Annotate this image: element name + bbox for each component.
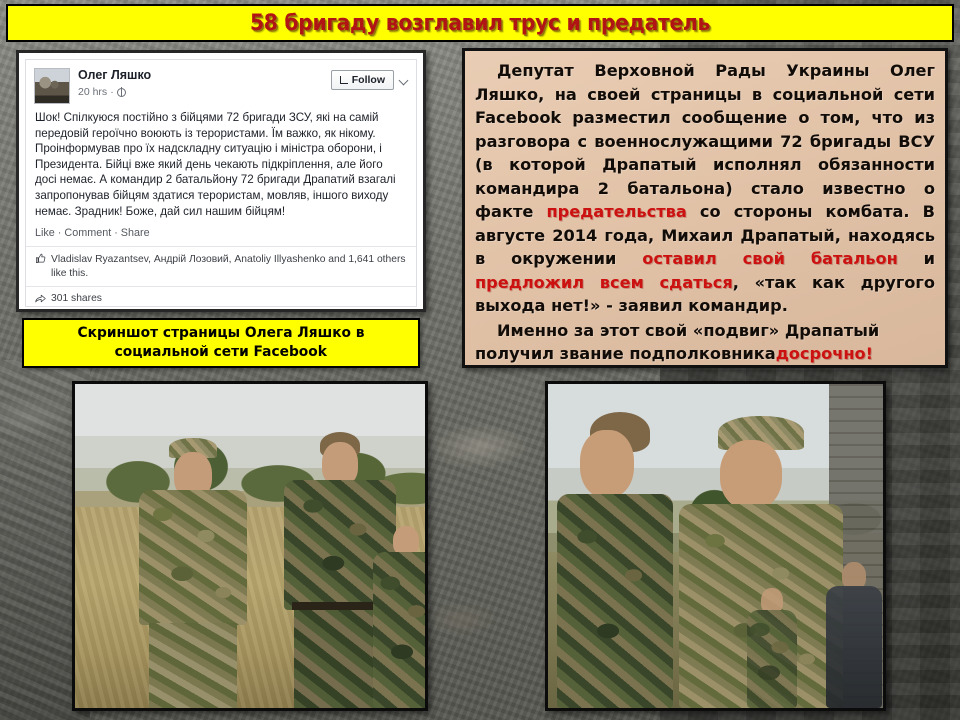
caption-line-2: социальной сети Facebook xyxy=(115,343,327,362)
bystander-2-body xyxy=(826,586,882,708)
photo-right-bystander-2 xyxy=(824,558,884,708)
likes-text: Vladislav Ryazantsev, Андрій Лозовий, An… xyxy=(51,253,407,280)
facebook-screenshot-card: Олег Ляшко 20 hrs · Follow Шок! Спілкуюс… xyxy=(16,50,426,312)
follow-button[interactable]: Follow xyxy=(331,70,394,90)
follow-button-label: Follow xyxy=(352,74,385,86)
post-likes-row: Vladislav Ryazantsev, Андрій Лозовий, An… xyxy=(26,246,416,286)
soldier-3-body xyxy=(373,552,428,708)
p2-highlight-1: досрочно! xyxy=(776,344,873,363)
article-paragraph-1: Депутат Верховной Рады Украины Олег Ляшк… xyxy=(475,59,935,318)
screenshot-caption: Скриншот страницы Олега Ляшко в социальн… xyxy=(22,318,420,368)
photo-right-bystander-1 xyxy=(744,588,800,708)
chevron-down-icon[interactable] xyxy=(399,76,408,85)
post-timestamp[interactable]: 20 hrs xyxy=(78,85,107,99)
photo-officers-talking xyxy=(545,381,886,711)
p1-text-c: и xyxy=(898,249,935,268)
page-title: 58 бригаду возглавил трус и предатель xyxy=(250,11,710,36)
bystander-1-body xyxy=(747,610,797,708)
avatar xyxy=(34,68,70,104)
p1-highlight-2: оставил свой батальон xyxy=(642,249,898,268)
p1-text-a: Депутат Верховной Рады Украины Олег Ляшк… xyxy=(475,61,935,221)
share-arrow-icon xyxy=(35,293,46,304)
thumbs-up-icon xyxy=(35,253,46,264)
post-action-links[interactable]: Like · Comment · Share xyxy=(26,223,416,246)
shares-text: 301 shares xyxy=(51,293,102,304)
post-author-name[interactable]: Олег Ляшко xyxy=(78,68,331,83)
man-left-face xyxy=(580,430,634,498)
photo-left-soldier-3 xyxy=(371,518,428,708)
p1-highlight-1: предательства xyxy=(546,202,686,221)
photo-soldiers-field xyxy=(72,381,428,711)
man-left-body xyxy=(557,494,673,708)
post-shares-row: 301 shares xyxy=(26,286,416,307)
facebook-post-header: Олег Ляшко 20 hrs · Follow xyxy=(26,60,416,108)
facebook-post: Олег Ляшко 20 hrs · Follow Шок! Спілкуюс… xyxy=(25,59,417,307)
photo-right-man-left xyxy=(554,408,676,708)
title-banner: 58 бригаду возглавил трус и предатель xyxy=(6,4,954,42)
post-body-text: Шок! Спілкуюся постійно з бійцями 72 бри… xyxy=(26,108,416,223)
p1-highlight-3: предложил всем сдаться xyxy=(475,273,733,292)
photo-left-soldier-1 xyxy=(133,438,253,708)
slide-canvas: 58 бригаду возглавил трус и предатель Ол… xyxy=(0,0,960,720)
rss-icon xyxy=(340,76,348,84)
globe-icon xyxy=(117,88,126,97)
soldier-1-legs xyxy=(149,623,237,708)
caption-line-1: Скриншот страницы Олега Ляшко в xyxy=(78,324,365,343)
man-right-face xyxy=(720,440,782,510)
article-paragraph-2: Именно за этот свой «подвиг» Драпатый по… xyxy=(475,319,935,366)
article-text-panel: Депутат Верховной Рады Украины Олег Ляшк… xyxy=(462,48,948,368)
post-meta: 20 hrs · xyxy=(78,85,331,99)
soldier-1-body xyxy=(139,490,247,625)
